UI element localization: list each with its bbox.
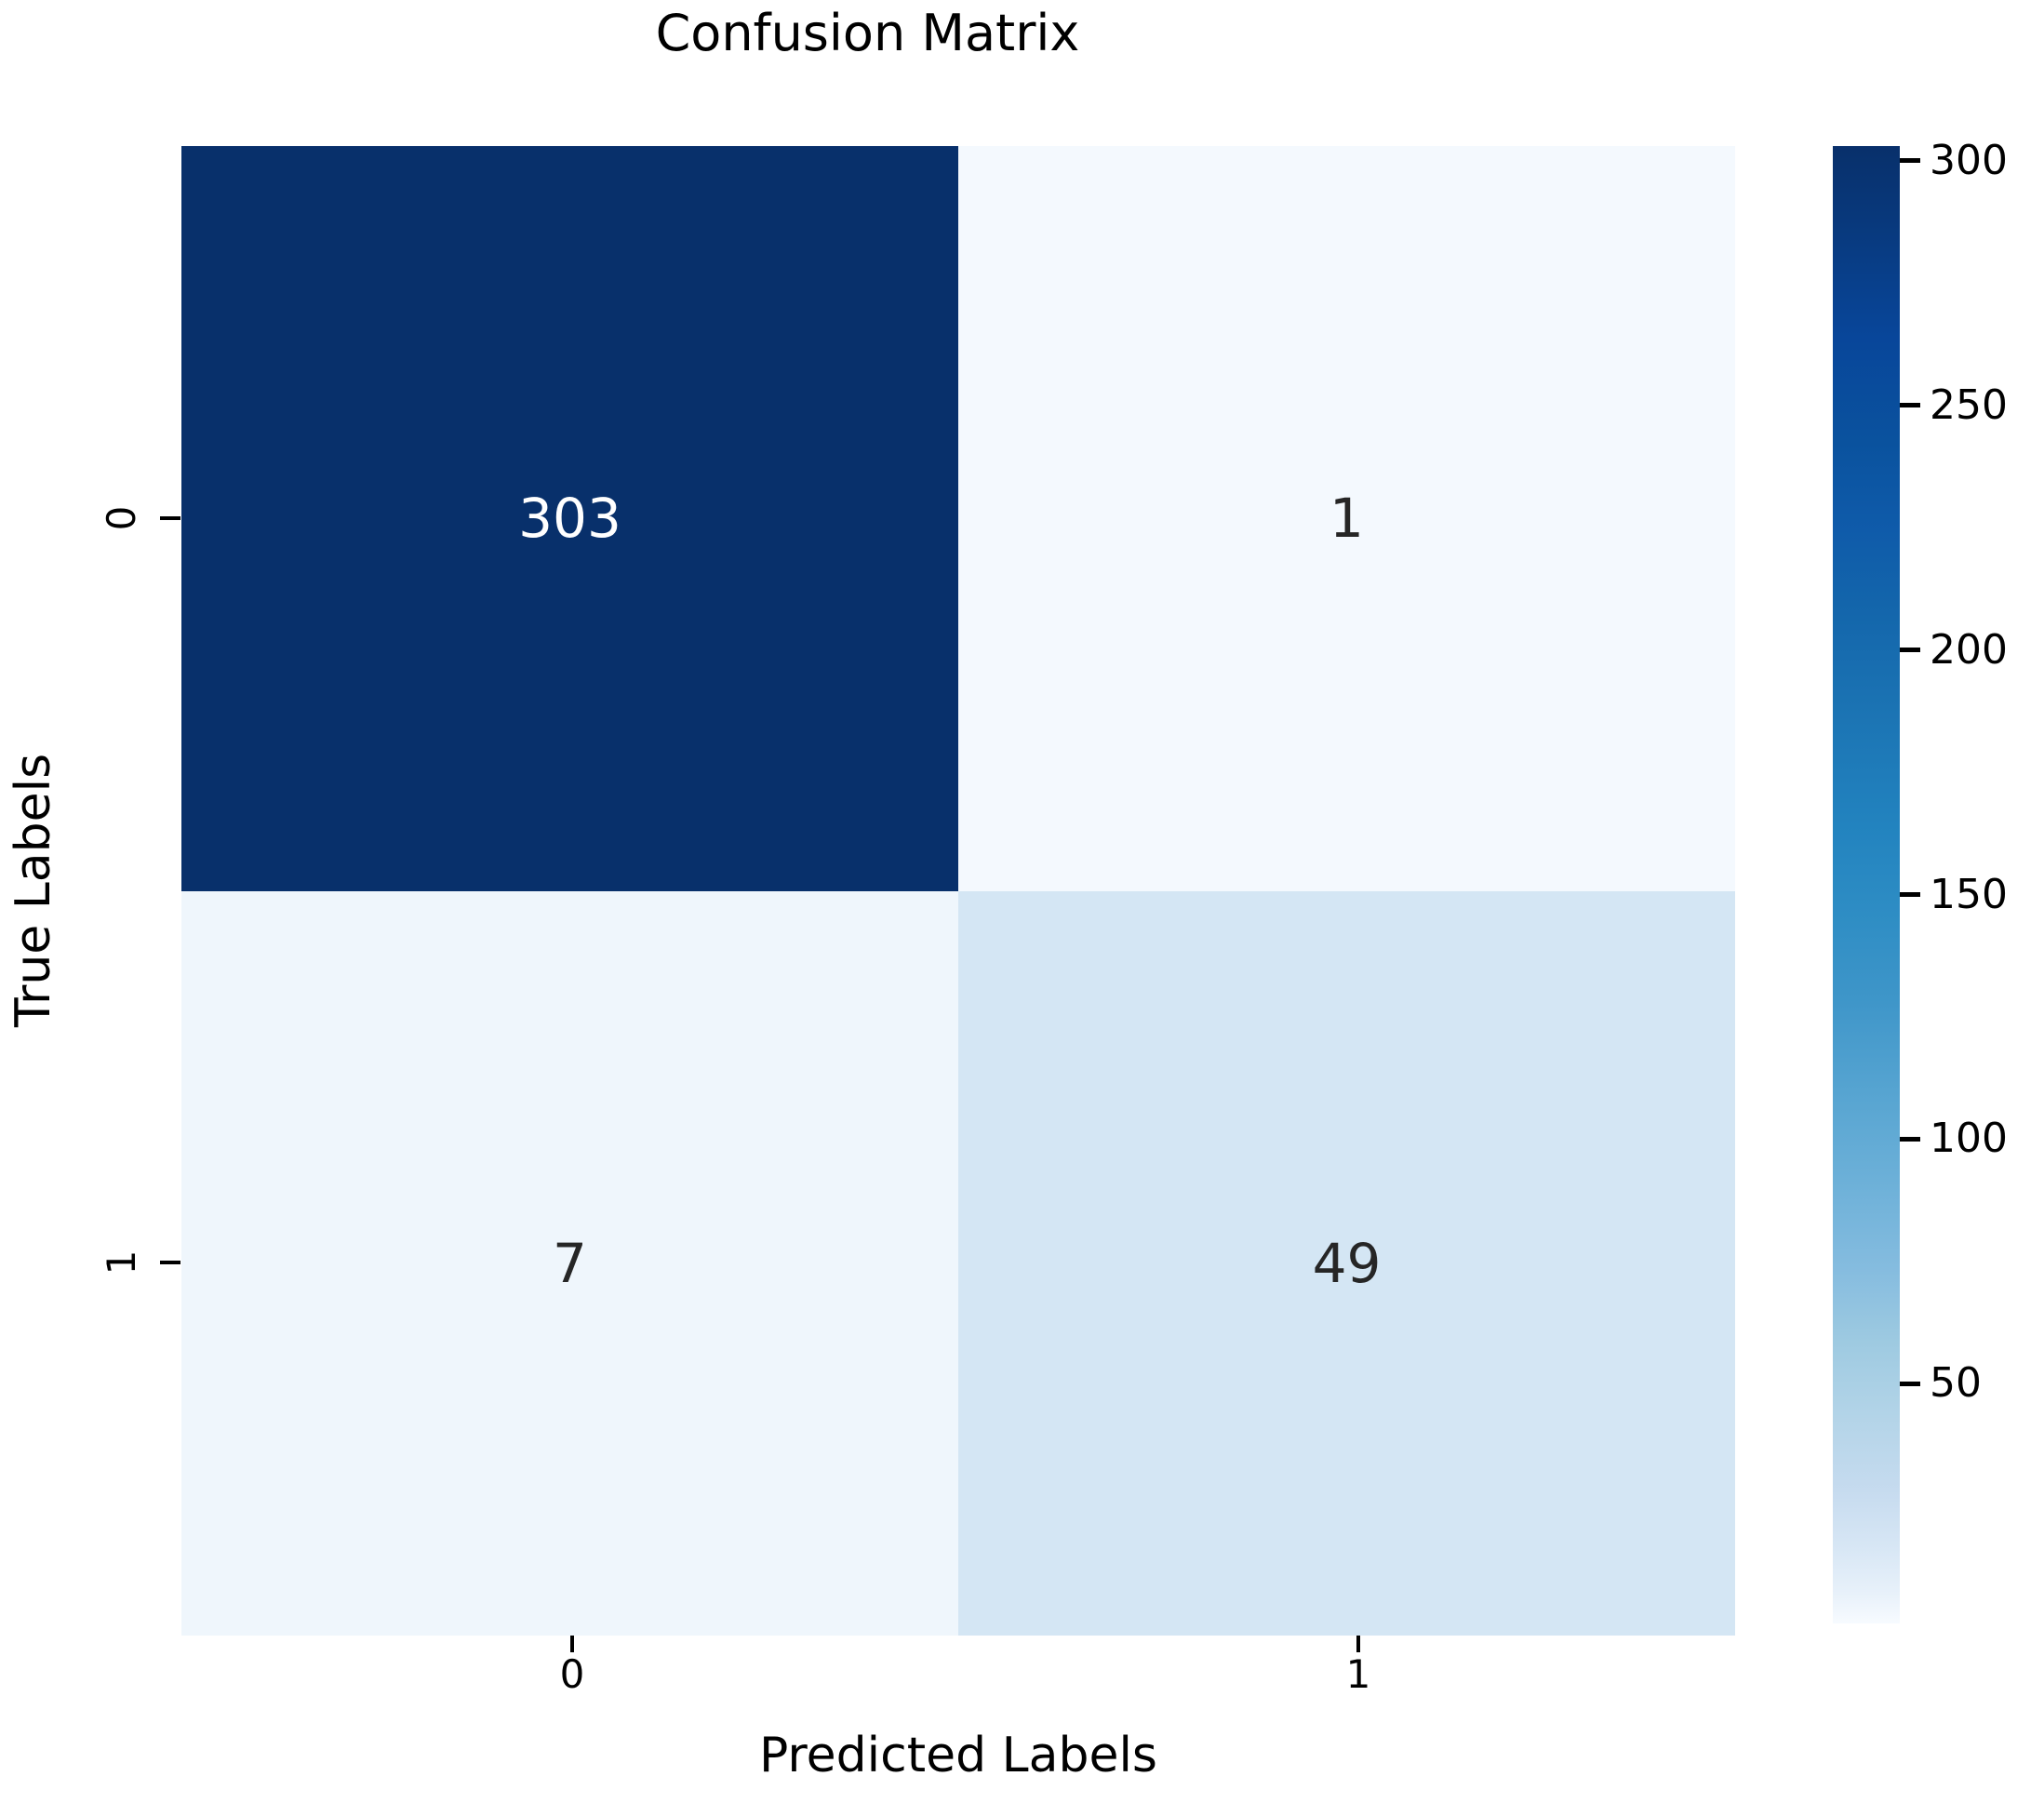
colorbar-gradient [1833,146,1900,1623]
heatmap-cell-0-1: 1 [958,146,1735,891]
x-tick-mark-1 [1356,1636,1360,1652]
colorbar: 30025020015010050 [1833,146,1900,1623]
colorbar-tick-mark-200 [1900,648,1920,652]
cell-value: 303 [518,491,621,545]
x-tick-mark-0 [570,1636,574,1652]
y-tick-label-1: 1 [100,1241,143,1284]
heatmap-cell-1-1: 49 [958,891,1735,1636]
colorbar-tick-mark-250 [1900,403,1920,407]
colorbar-tick-mark-50 [1900,1382,1920,1386]
cell-value: 7 [553,1236,587,1290]
heatmap-cell-0-0: 303 [181,146,958,891]
x-tick-label-0: 0 [544,1651,600,1698]
cell-value: 1 [1329,491,1364,545]
y-tick-label-0: 0 [100,497,143,540]
x-axis-label: Predicted Labels [181,1728,1735,1783]
y-tick-mark-1 [160,1261,180,1264]
heatmap-cell-1-0: 7 [181,891,958,1636]
cell-value: 49 [1313,1236,1382,1290]
colorbar-tick-mark-100 [1900,1137,1920,1142]
colorbar-tick-mark-300 [1900,158,1920,163]
page-title: Confusion Matrix [0,4,1735,63]
colorbar-tick-mark-150 [1900,892,1920,897]
y-axis-label-text: True Labels [6,754,61,1027]
y-tick-mark-0 [160,516,180,520]
x-tick-label-1: 1 [1330,1651,1386,1698]
heatmap-plot-area: 303 1 7 49 [181,146,1735,1636]
